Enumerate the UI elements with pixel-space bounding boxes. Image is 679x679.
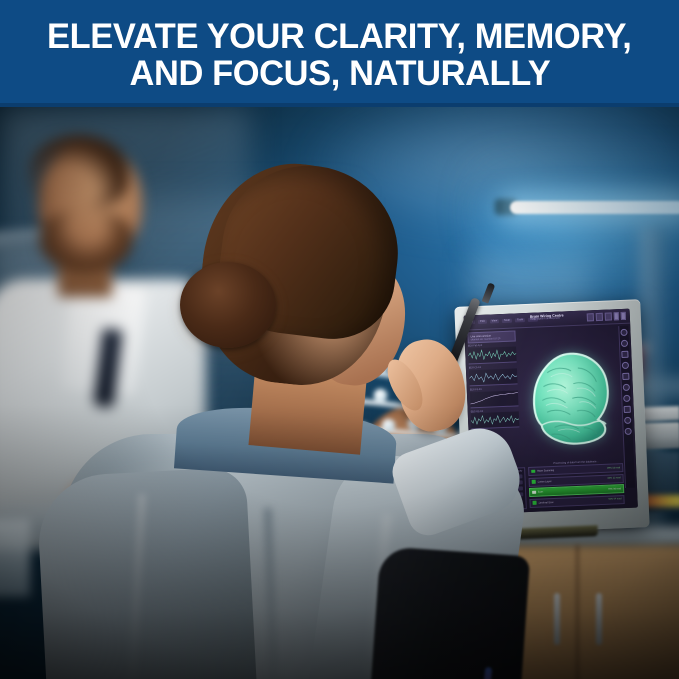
scientist-hair-bun (180, 262, 276, 348)
close-icon[interactable] (605, 312, 612, 320)
channel-list[interactable]: Wave Scanning 99% 16 read Cortex Layer 8… (528, 463, 625, 509)
channel-value: 55% 04 read (608, 498, 621, 501)
cabinet-handle-left (554, 593, 560, 645)
headline-line-1: ELEVATE YOUR CLARITY, MEMORY, (47, 18, 631, 55)
measure-icon[interactable] (622, 373, 629, 380)
channel-toggle-icon[interactable] (532, 480, 536, 484)
grid-icon[interactable] (623, 384, 630, 391)
layers-icon[interactable] (622, 362, 629, 369)
poster-root: ELEVATE YOUR CLARITY, MEMORY, AND FOCUS,… (0, 0, 679, 679)
cabinet-handle-right (596, 593, 602, 645)
banner-bottom-edge (0, 103, 679, 107)
headline-line-2: AND FOCUS, NATURALLY (129, 55, 550, 92)
scientist-left-shoulder (36, 467, 259, 679)
channel-name: Scan (538, 490, 544, 493)
fluorescent-tube-light (510, 201, 679, 214)
contrast-icon[interactable] (623, 395, 630, 402)
headline-banner: ELEVATE YOUR CLARITY, MEMORY, AND FOCUS,… (0, 0, 679, 107)
channel-name: Cortex Layer (537, 480, 551, 484)
brain-scan-render[interactable] (527, 349, 617, 449)
settings-icon[interactable] (625, 428, 632, 435)
channel-value: 99% 16 read (607, 467, 620, 470)
rotate-icon[interactable] (621, 351, 628, 358)
export-icon[interactable] (624, 417, 631, 424)
cursor-icon[interactable] (620, 329, 627, 336)
lab-photograph: File Edit View Scan Tools Help Brain Wir… (0, 107, 679, 679)
channel-value: 84% 12 read (608, 477, 621, 480)
record-icon[interactable] (624, 406, 631, 413)
restore-icon[interactable] (596, 313, 603, 321)
channel-toggle-icon[interactable] (533, 501, 537, 505)
left-counter-object (0, 519, 30, 597)
window-controls[interactable] (587, 312, 626, 322)
channel-value: 76% 08 read (608, 488, 621, 491)
status-indicator-icon (614, 312, 619, 320)
channel-toggle-icon[interactable] (531, 470, 535, 474)
minimize-icon[interactable] (587, 313, 594, 321)
channel-name: Wave Scanning (537, 469, 555, 473)
channel-name: Cerebral Scan (538, 500, 554, 504)
channel-toggle-icon[interactable] (532, 491, 536, 495)
channel-row[interactable]: Cerebral Scan 55% 04 read (529, 495, 624, 508)
zoom-icon[interactable] (621, 340, 628, 347)
status-indicator-icon (621, 312, 626, 320)
foreground-dark-figure (364, 546, 530, 679)
cabinet-seam (576, 545, 579, 679)
